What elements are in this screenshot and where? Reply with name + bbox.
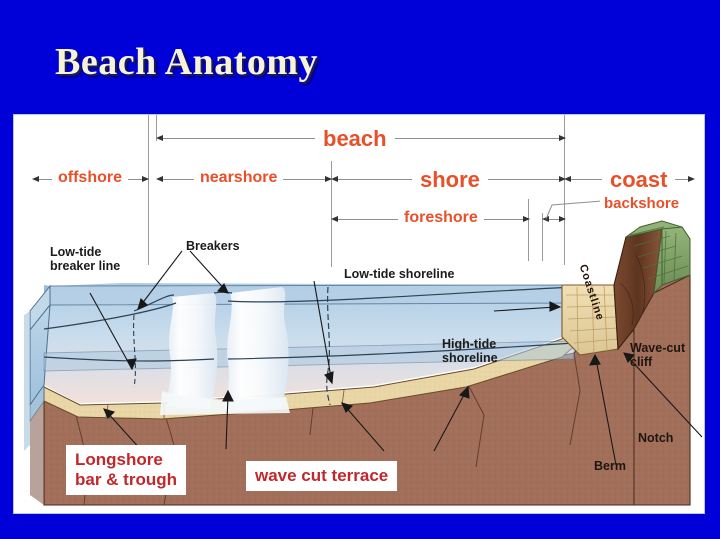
span-shore-arrow-left	[331, 176, 338, 182]
label-backshore: backshore	[600, 195, 683, 212]
boxed-label-longshore-bar-trough: Longshore bar & trough	[66, 445, 186, 495]
callout-wave-cut-cliff-1: Wave-cut	[630, 341, 685, 355]
span-offshore-arrow-right	[142, 176, 149, 182]
label-offshore: offshore	[52, 169, 128, 187]
callout-low-tide-breaker-line-2: breaker line	[50, 259, 120, 273]
boxed-label-longshore-line-1: Longshore	[75, 450, 177, 470]
callout-low-tide-breaker-line-1: Low-tide	[50, 245, 120, 259]
boxed-label-wave-cut-terrace: wave cut terrace	[246, 461, 397, 491]
span-offshore-arrow-left	[32, 176, 39, 182]
span-foreshore-arrow-left	[331, 216, 338, 222]
callout-low-tide-shoreline: Low-tide shoreline	[344, 267, 454, 281]
callout-wave-cut-cliff-2: cliff	[630, 355, 685, 369]
span-foreshore-arrow-right	[523, 216, 530, 222]
span-nearshore-arrow-left	[156, 176, 163, 182]
span-beach-arrow-left	[156, 135, 163, 141]
callout-low-tide-breaker-line: Low-tide breaker line	[50, 245, 120, 273]
callout-high-tide-shoreline: High-tide shoreline	[442, 337, 498, 365]
ref-line-foreshore-end	[528, 199, 529, 261]
label-foreshore: foreshore	[398, 209, 484, 227]
callout-high-tide-shoreline-1: High-tide	[442, 337, 498, 351]
ref-line-nearshore-start	[148, 115, 149, 265]
span-coast-arrow-left	[564, 176, 571, 182]
page-title: Beach Anatomy	[55, 40, 318, 84]
label-nearshore: nearshore	[194, 169, 283, 187]
span-beach-arrow-right	[559, 135, 566, 141]
callout-high-tide-shoreline-2: shoreline	[442, 351, 498, 365]
slide-root: Beach Anatomy	[0, 0, 720, 539]
span-coast-arrow-right	[688, 176, 695, 182]
label-beach: beach	[315, 126, 395, 152]
boxed-label-longshore-line-2: bar & trough	[75, 470, 177, 490]
diagram-panel: beach offshore nearshore shore coast for…	[13, 114, 705, 514]
callout-notch: Notch	[638, 431, 673, 445]
callout-wave-cut-cliff: Wave-cut cliff	[630, 341, 685, 369]
callout-breakers: Breakers	[186, 239, 240, 253]
callout-berm: Berm	[594, 459, 626, 473]
label-coast: coast	[602, 167, 675, 193]
label-shore: shore	[412, 167, 488, 193]
